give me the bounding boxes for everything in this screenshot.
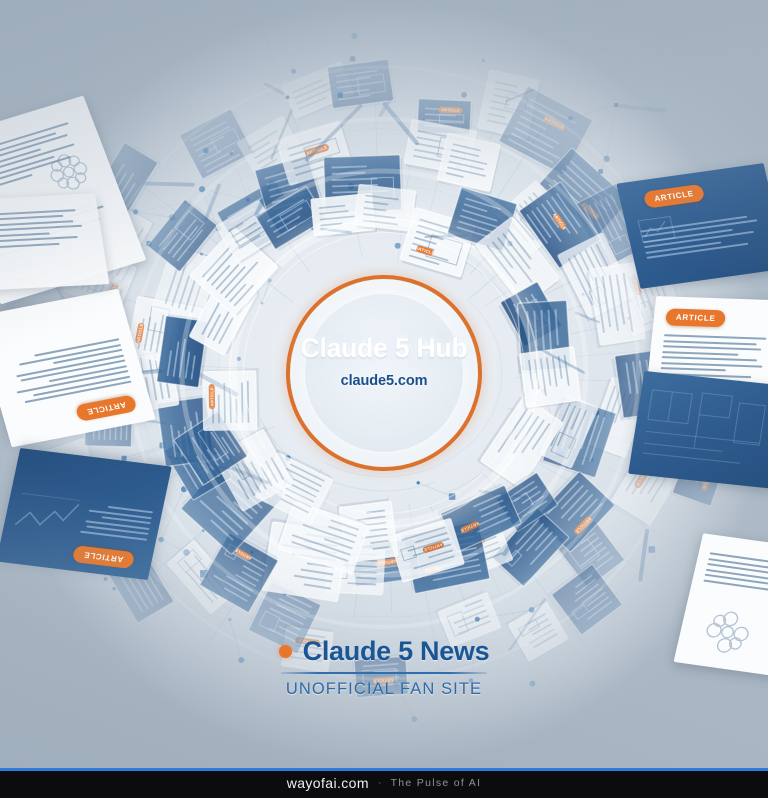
article-badge: ARTICLE (665, 308, 726, 327)
document-card-right-lower[interactable] (628, 371, 768, 489)
brand-divider (281, 672, 487, 674)
document-card-bottom-left[interactable]: ARTICLE (0, 448, 172, 580)
brand-subtitle: UNOFFICIAL FAN SITE (0, 680, 768, 699)
document-card-left-mid[interactable] (0, 193, 109, 291)
article-badge: ARTICLE (75, 394, 138, 422)
brand-title-row: Claude 5 News (279, 636, 490, 667)
footer-accent-line (0, 768, 768, 771)
footer-tagline: The Pulse of AI (391, 777, 482, 789)
hub-url[interactable]: claude5.com (254, 373, 514, 389)
chart-glyph-icon (637, 215, 676, 243)
poster-canvas: ARTICLEARTICLEARTICLEARTICLEARTICLEARTIC… (0, 0, 768, 798)
footer-separator: · (378, 777, 382, 789)
bullet-dot-icon (279, 645, 292, 658)
footer-domain[interactable]: wayofai.com (287, 775, 369, 791)
article-badge: ARTICLE (642, 184, 705, 209)
brand-name: Claude 5 News (303, 636, 490, 667)
document-card-top-right[interactable]: ARTICLE (616, 163, 768, 289)
line-chart-icon (13, 491, 83, 536)
article-badge: ARTICLE (72, 545, 135, 569)
blueprint-grid-icon (639, 384, 768, 474)
brand-lockup: Claude 5 News UNOFFICIAL FAN SITE (0, 636, 768, 699)
footer-bar: wayofai.com · The Pulse of AI (0, 768, 768, 798)
hub-text-block: Claude 5 Hub claude5.com (254, 333, 514, 389)
hub-title: Claude 5 Hub (254, 333, 514, 364)
